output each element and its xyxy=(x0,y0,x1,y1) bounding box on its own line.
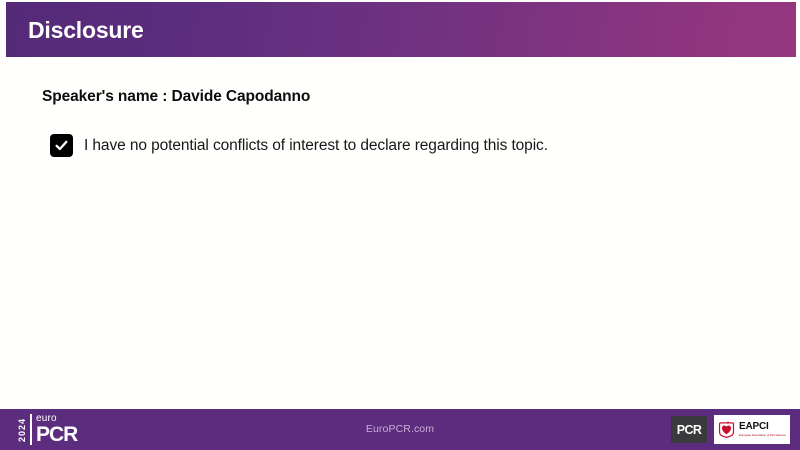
page-title: Disclosure xyxy=(28,16,144,44)
slide-header-bar: Disclosure xyxy=(6,2,796,57)
pcr-badge-logo: PCR xyxy=(671,416,707,443)
speaker-name-line: Speaker's name : Davide Capodanno xyxy=(42,88,310,106)
declaration-row: I have no potential conflicts of interes… xyxy=(50,134,548,157)
checkbox-checked-icon[interactable] xyxy=(50,134,73,157)
eapci-name-text: EAPCI xyxy=(739,422,786,432)
declaration-text: I have no potential conflicts of interes… xyxy=(84,137,548,155)
eapci-logo: EAPCI European Association of Percutaneo… xyxy=(714,415,790,444)
footer-logos-right: PCR EAPCI European Association of Percut… xyxy=(671,414,790,445)
eapci-subtitle-text: European Association of Percutaneous Car… xyxy=(739,434,786,437)
disclosure-slide: Disclosure Speaker's name : Davide Capod… xyxy=(0,0,800,450)
heart-icon xyxy=(718,421,735,438)
eapci-texts: EAPCI European Association of Percutaneo… xyxy=(739,422,786,436)
